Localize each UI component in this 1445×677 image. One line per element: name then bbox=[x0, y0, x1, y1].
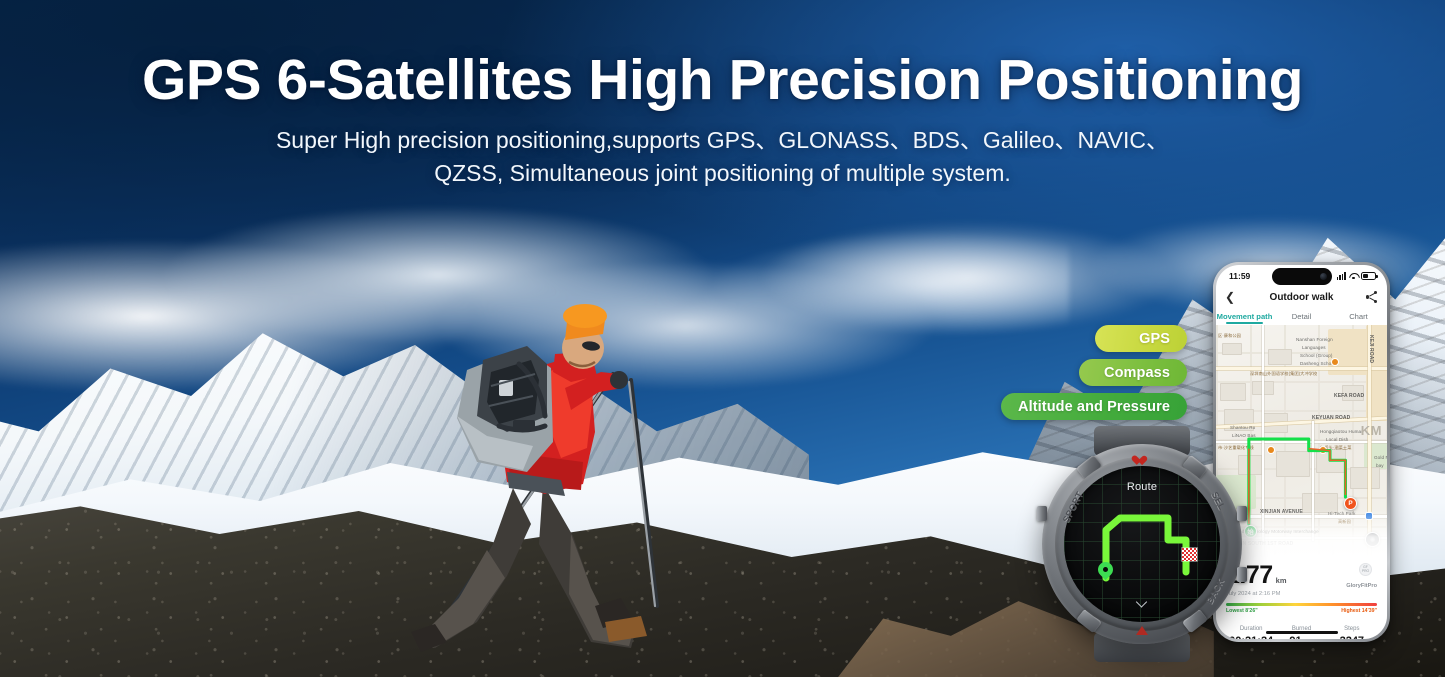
pace-range-row: Lowest 8'26" Highest 14'39" bbox=[1226, 608, 1377, 614]
map-poi-marker[interactable] bbox=[1332, 359, 1338, 365]
watch-side-button-sel[interactable] bbox=[1237, 506, 1247, 521]
hero-banner: GPS 6-Satellites High Precision Position… bbox=[0, 0, 1445, 677]
smartwatch-mockup: Route SPORT SEL BACK bbox=[1042, 444, 1242, 644]
map-label: Hongqiaotou Human bbox=[1320, 429, 1364, 434]
hero-text-block: GPS 6-Satellites High Precision Position… bbox=[0, 52, 1445, 189]
watch-side-button-left[interactable] bbox=[1037, 506, 1047, 521]
map-label: Nanshan Foreign bbox=[1296, 337, 1333, 342]
tab-movement-path[interactable]: Movement path bbox=[1216, 312, 1273, 321]
hero-subtitle-line-2: QZSS, Simultaneous joint positioning of … bbox=[0, 157, 1445, 190]
tab-chart[interactable]: Chart bbox=[1330, 312, 1387, 321]
pace-gradient-bar bbox=[1226, 603, 1377, 606]
map-label: 深圳南山外国语学校(集团)大冲学校 bbox=[1250, 371, 1317, 377]
map-label: 区·康和公园 bbox=[1218, 333, 1241, 339]
phone-nav-bar: ❮ Outdoor walk bbox=[1216, 286, 1387, 308]
hero-subtitle-line-1: Super High precision positioning,support… bbox=[0, 124, 1445, 157]
badge-line-2: PRO bbox=[1362, 570, 1369, 574]
map-label: Local Dish bbox=[1326, 437, 1348, 442]
map-label: Shantou Ro bbox=[1230, 425, 1255, 430]
feature-badge-compass[interactable]: Compass bbox=[1079, 359, 1187, 386]
map-label: LiNAO Bas bbox=[1232, 433, 1256, 438]
watch-side-button-back[interactable] bbox=[1237, 567, 1247, 582]
map-label: School (Group) bbox=[1300, 353, 1333, 358]
map-building bbox=[1276, 451, 1310, 477]
checkered-flag-icon bbox=[1182, 548, 1197, 561]
home-indicator[interactable] bbox=[1266, 631, 1338, 634]
page-title: GPS 6-Satellites High Precision Position… bbox=[0, 52, 1445, 109]
feature-badge-altitude[interactable]: Altitude and Pressure bbox=[1001, 393, 1187, 420]
chevron-down-icon[interactable] bbox=[1137, 597, 1148, 608]
stat-steps-value: 2247 bbox=[1327, 635, 1377, 639]
map-poi-marker[interactable] bbox=[1268, 447, 1274, 453]
hiker-illustration bbox=[395, 276, 695, 656]
dynamic-island bbox=[1272, 268, 1332, 285]
app-brand-label: GloryFitPro bbox=[1346, 583, 1377, 589]
location-pin-icon bbox=[1098, 562, 1113, 581]
map-building bbox=[1350, 467, 1380, 489]
map-label: Gold Ne bbox=[1374, 455, 1387, 460]
feature-badge-gps[interactable]: GPS bbox=[1095, 325, 1187, 352]
stat-burned-number: 91 bbox=[1289, 635, 1301, 639]
heart-icon bbox=[1137, 456, 1148, 466]
map-label: Dasheng School bbox=[1300, 361, 1335, 366]
battery-icon bbox=[1361, 272, 1376, 280]
phone-tab-bar: Movement path Detail Chart bbox=[1216, 308, 1387, 325]
map-building bbox=[1220, 383, 1246, 401]
activity-date: July 2024 at 2:16 PM bbox=[1226, 591, 1377, 597]
tab-detail[interactable]: Detail bbox=[1273, 312, 1330, 321]
glory-fit-badge-icon: GF PRO bbox=[1359, 563, 1372, 576]
map-building bbox=[1222, 343, 1242, 355]
phone-status-bar: 11:59 bbox=[1216, 265, 1387, 286]
map-label: KEFA ROAD bbox=[1334, 393, 1364, 399]
map-poi-marker[interactable] bbox=[1320, 447, 1326, 453]
map-label: bay bbox=[1376, 463, 1384, 468]
status-time: 11:59 bbox=[1229, 271, 1250, 281]
front-camera-icon bbox=[1320, 273, 1327, 280]
feature-badge-list: GPS Compass Altitude and Pressure bbox=[1001, 325, 1187, 420]
map-building bbox=[1268, 349, 1292, 365]
stat-burned-value: 91kcal bbox=[1276, 635, 1326, 639]
phone-screen-title: Outdoor walk bbox=[1216, 292, 1387, 303]
warning-triangle-icon bbox=[1136, 626, 1148, 635]
cellular-bars-icon bbox=[1337, 272, 1346, 280]
map-label: Languages bbox=[1302, 345, 1326, 350]
map-label: KEJI ROAD bbox=[1368, 335, 1374, 363]
pace-highest: Highest 14'39" bbox=[1341, 608, 1377, 614]
watch-screen[interactable]: Route bbox=[1064, 466, 1220, 622]
map-scale-label: KM bbox=[1361, 423, 1382, 438]
map-road bbox=[1216, 441, 1387, 443]
share-icon[interactable] bbox=[1366, 291, 1378, 303]
map-label: KEYUAN ROAD bbox=[1312, 415, 1350, 421]
distance-unit: km bbox=[1276, 576, 1287, 585]
status-indicators bbox=[1337, 272, 1376, 280]
wifi-icon bbox=[1349, 272, 1358, 280]
hero-subtitle: Super High precision positioning,support… bbox=[0, 124, 1445, 189]
map-road bbox=[1216, 367, 1387, 370]
